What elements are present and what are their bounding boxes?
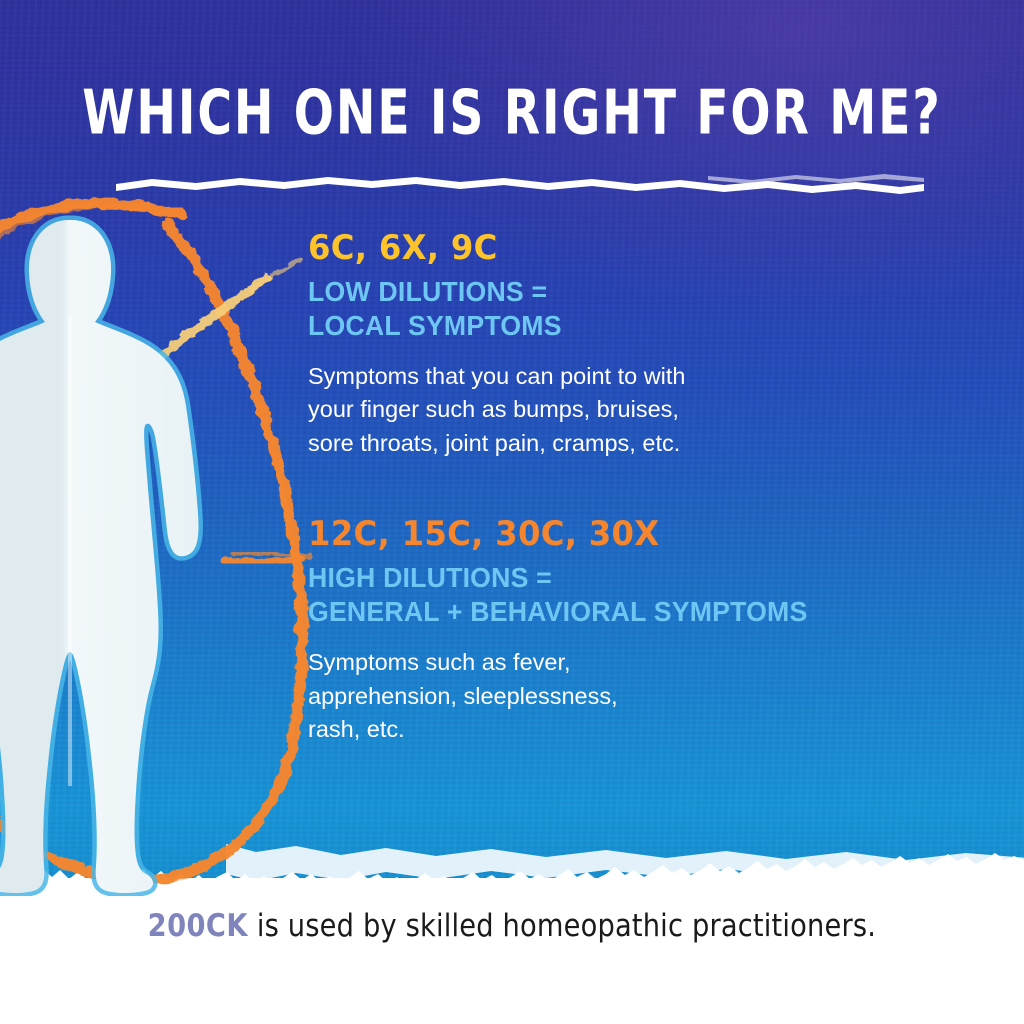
footer-potency-label: 200CK xyxy=(148,908,248,944)
high-dilution-subheading-line1: HIGH DILUTIONS = xyxy=(308,561,977,595)
low-dilution-subheading-line2: LOCAL SYMPTOMS xyxy=(308,309,977,343)
high-dilution-description-line1: Symptoms such as fever, xyxy=(308,646,998,679)
low-dilution-description: Symptoms that you can point to with your… xyxy=(308,360,998,460)
high-dilution-description-line2: apprehension, sleeplessness, xyxy=(308,680,998,713)
low-dilution-block: 6C, 6X, 9C LOW DILUTIONS = LOCAL SYMPTOM… xyxy=(308,230,998,460)
high-dilution-potencies: 12C, 15C, 30C, 30X xyxy=(308,516,964,552)
low-dilution-subheading-line1: LOW DILUTIONS = xyxy=(308,275,977,309)
footer-text-wrap: 200CK is used by skilled homeopathic pra… xyxy=(148,908,876,944)
low-dilution-description-line1: Symptoms that you can point to with xyxy=(308,360,998,393)
footer-note: 200CK is used by skilled homeopathic pra… xyxy=(0,908,1024,944)
low-dilution-potencies: 6C, 6X, 9C xyxy=(308,230,964,266)
high-dilution-description: Symptoms such as fever, apprehension, sl… xyxy=(308,646,998,746)
page-title: WHICH ONE IS RIGHT FOR ME? xyxy=(72,82,953,144)
title-block: WHICH ONE IS RIGHT FOR ME? xyxy=(0,82,1024,137)
infographic-poster: WHICH ONE IS RIGHT FOR ME? 6C, 6X, 9C LO… xyxy=(0,0,1024,1024)
low-dilution-subheading: LOW DILUTIONS = LOCAL SYMPTOMS xyxy=(308,275,977,342)
high-dilution-subheading-line2: GENERAL + BEHAVIORAL SYMPTOMS xyxy=(308,595,977,629)
high-dilution-subheading: HIGH DILUTIONS = GENERAL + BEHAVIORAL SY… xyxy=(308,561,977,628)
title-underline-brush-stroke xyxy=(112,170,926,196)
dilution-guide-content: 6C, 6X, 9C LOW DILUTIONS = LOCAL SYMPTOM… xyxy=(308,230,998,746)
low-dilution-description-line2: your finger such as bumps, bruises, xyxy=(308,393,998,426)
low-dilution-description-line3: sore throats, joint pain, cramps, etc. xyxy=(308,427,998,460)
high-dilution-description-line3: rash, etc. xyxy=(308,713,998,746)
footer-sentence: is used by skilled homeopathic practitio… xyxy=(248,908,876,944)
human-body-silhouette xyxy=(0,196,334,896)
high-dilution-block: 12C, 15C, 30C, 30X HIGH DILUTIONS = GENE… xyxy=(308,516,998,746)
